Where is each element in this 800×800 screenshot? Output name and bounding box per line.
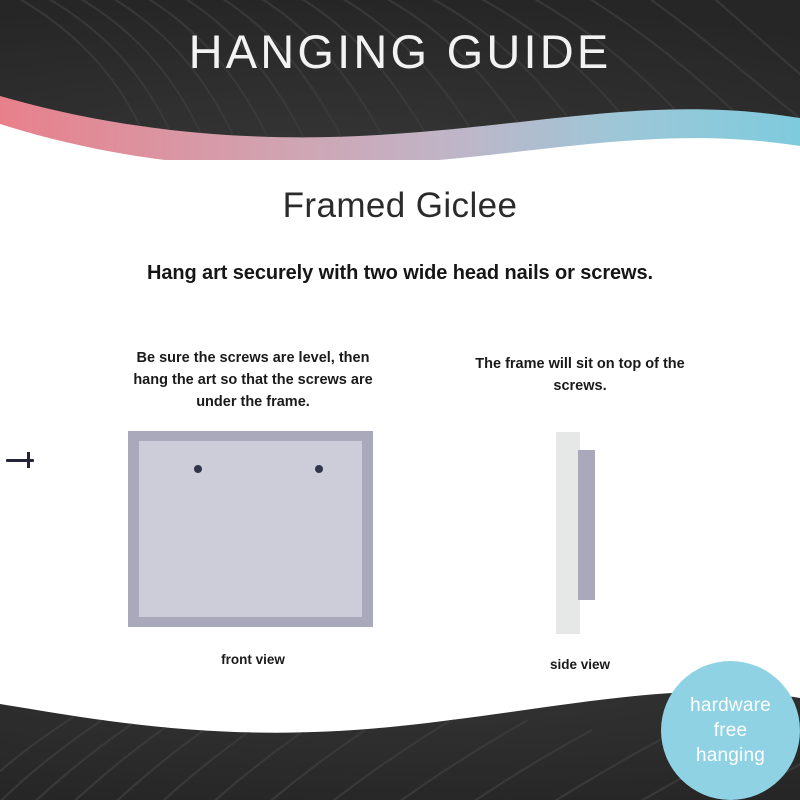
page-title: HANGING GUIDE bbox=[0, 28, 800, 75]
front-view-diagram bbox=[128, 431, 373, 627]
side-view-wall bbox=[556, 432, 580, 634]
hanging-guide-page: HANGING GUIDE Framed Giclee Hang art sec… bbox=[0, 0, 800, 800]
product-title: Framed Giclee bbox=[0, 186, 800, 226]
side-view-caption: The frame will sit on top of the screws. bbox=[455, 353, 705, 397]
header-band: HANGING GUIDE bbox=[0, 0, 800, 160]
hardware-free-hanging-badge: hardware free hanging bbox=[661, 661, 800, 800]
side-view-diagram bbox=[550, 428, 610, 634]
front-view-mat bbox=[139, 441, 362, 617]
header-band-graphic bbox=[0, 0, 800, 160]
side-view-screw-head-icon bbox=[27, 452, 30, 468]
front-view-caption: Be sure the screws are level, then hang … bbox=[118, 347, 388, 413]
badge-line-1: hardware bbox=[690, 693, 771, 718]
main-instruction-text: Hang art securely with two wide head nai… bbox=[0, 262, 800, 285]
badge-line-2: free bbox=[714, 718, 748, 743]
side-view-frame bbox=[578, 450, 595, 600]
screw-dot-left-icon bbox=[194, 465, 202, 473]
badge-line-3: hanging bbox=[696, 743, 765, 768]
screw-dot-right-icon bbox=[315, 465, 323, 473]
front-view-label: front view bbox=[118, 652, 388, 667]
